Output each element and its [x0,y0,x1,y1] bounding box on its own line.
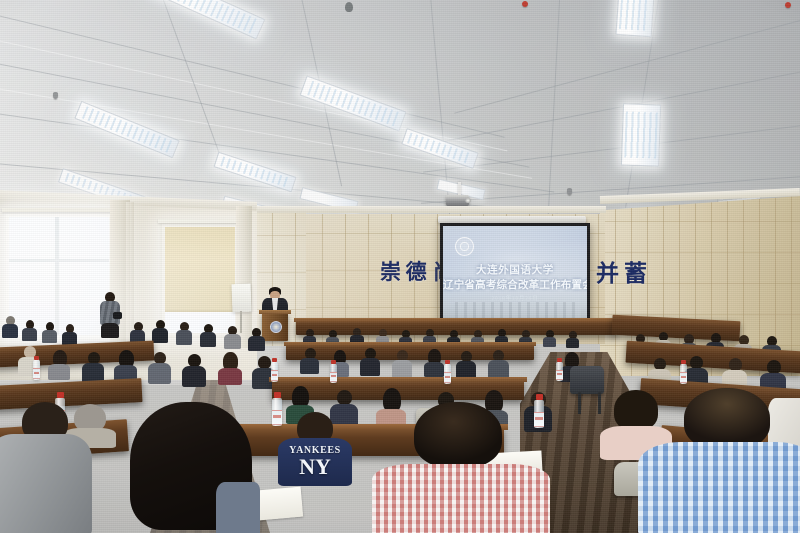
podium-top-surface [259,310,291,314]
bottle-label [680,372,687,383]
slide-title-line1: 大连外国语大学 [443,262,587,277]
window-roller-blind [165,227,235,312]
foreground-person-blue-plaid-shirt [638,394,800,533]
person-torso [300,358,319,374]
upholstered-chair[interactable] [570,366,604,394]
person-jacket: YANKEES NY [278,438,352,486]
audience-person [300,348,319,374]
audience-person [376,388,406,428]
foreground-person-red-plaid-shirt [372,424,550,533]
water-bottle [444,364,451,384]
person-torso [224,334,241,349]
wall-cornice [250,206,606,213]
audience-person [456,351,476,379]
person-torso [2,324,18,338]
window-frame [4,212,114,340]
fire-sprinkler-head [522,1,528,7]
conference-hall-photograph: 崇德 尚 并蓄 大连外国语大学 辽宁省高考综合改革工作布置会 2018年10月2… [0,0,800,533]
bottle-cap [536,394,543,400]
person-torso [22,328,37,341]
window-blind-rail [2,208,112,212]
wall-motto-left: 崇德 [380,256,431,286]
audience-person [248,328,265,351]
foreground-person-gray-hoodie [0,418,92,533]
university-crest-emblem [270,321,282,333]
bottle-cap [557,358,562,362]
bottle-cap [57,392,64,398]
person-torso [218,368,242,385]
person-torso [152,328,168,343]
person-torso [48,364,70,380]
audience-person [114,350,137,382]
audience-person [176,322,192,345]
person-torso [543,337,556,347]
bottle-label [330,372,337,382]
projector-mount-pole [458,182,461,196]
chair-leg [578,392,581,414]
camera [113,312,122,319]
person-torso [360,358,380,376]
water-bottle [271,362,278,382]
audience-person [82,352,104,383]
window-frame [160,222,240,338]
audience-person [224,326,241,349]
person-head [414,402,502,468]
person-torso [424,362,444,377]
ceiling-projector [446,195,469,206]
bottle-cap [34,356,39,360]
desk-top-surface [284,342,536,346]
fire-sprinkler-head [785,2,791,8]
bottle-cap [272,358,277,362]
person-head [337,390,352,405]
desk-top-surface [294,318,618,322]
audience-person [543,330,556,346]
bottle-cap [274,392,281,398]
person-torso [148,363,171,384]
window-mullion [55,217,59,335]
audience-person [148,352,171,384]
audience-person [424,349,444,377]
slide-surface: 大连外国语大学 辽宁省高考综合改革工作布置会 2018年10月26日 [443,226,587,322]
fire-sprinkler-head [53,92,58,99]
university-seal-logo [455,237,474,256]
audience-person [182,354,206,387]
person-torso [176,330,192,345]
audience-person [42,322,57,343]
projection-screen[interactable]: 大连外国语大学 辽宁省高考综合改革工作布置会 2018年10月26日 [440,223,590,325]
person-torso [182,366,206,387]
bottle-label [271,370,278,381]
person-head [684,388,770,450]
audience-person-yankees-jacket: YANKEES NY [278,412,352,486]
person-shirt [372,464,550,533]
audience-person [152,320,168,343]
foreground-person-long-hair [120,408,260,533]
desk-top-surface [269,377,527,382]
audience-person [22,320,37,341]
audience-person [2,316,18,338]
recessed-fluorescent-fixture [616,0,655,37]
water-bottle [680,364,687,384]
standing-photographer [100,292,120,338]
person-torso [392,360,412,378]
person-torso [248,336,265,351]
bottle-label [556,370,563,380]
bottle-cap [681,360,686,364]
person-lower [101,323,119,338]
audience-person [62,324,77,345]
bottle-cap [331,360,336,364]
person-shoulder [216,482,260,533]
audience-person [200,324,216,347]
window-blind-rail [158,219,238,223]
audience-person [488,350,509,379]
person-head [767,360,781,374]
audience-person [48,350,70,380]
water-bottle [556,362,563,381]
projection-screen-case [438,216,586,223]
person-torso [566,338,579,348]
wall-motto-right: 并蓄 [596,254,652,288]
bottle-label [444,372,451,383]
audience-person [392,350,412,378]
window-mullion [9,259,109,262]
podium [262,313,288,341]
projector-lens [465,198,471,203]
person-shirt [638,442,800,533]
bottle-cap [445,360,450,364]
water-bottle [330,364,337,383]
person-torso [42,330,57,343]
audience-person [360,348,380,376]
fire-sprinkler-head [567,188,572,195]
audience-person [218,352,242,385]
bottle-label [33,368,40,379]
jacket-logo-ny: NY [278,456,352,478]
audience-person [566,331,579,347]
flipchart-easel [232,284,252,313]
window-glass [9,217,109,335]
ceiling-speaker [345,2,353,12]
recessed-fluorescent-fixture [621,103,661,166]
water-bottle [33,360,40,380]
person-hoodie [0,434,92,533]
person-torso [200,332,216,347]
